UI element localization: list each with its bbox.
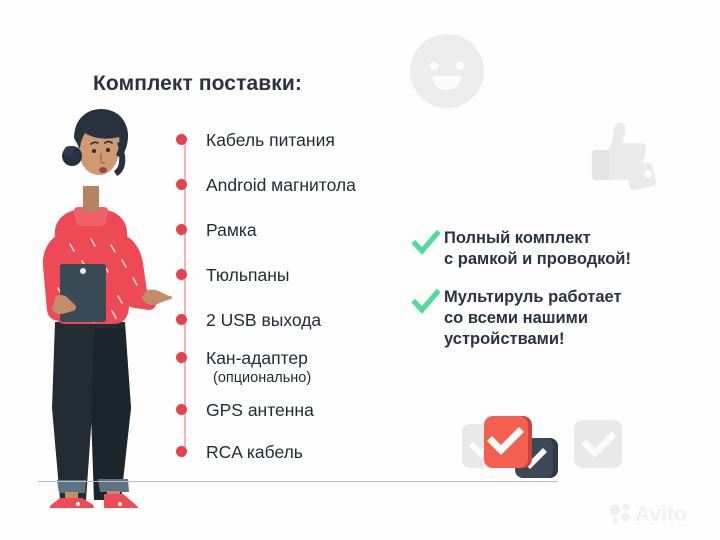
benefit-text: Мультируль работает со всеми нашими устр…	[444, 287, 622, 350]
benefit-line-1: Мультируль работает	[444, 288, 622, 306]
list-item: 2 USB выхода	[176, 310, 321, 330]
benefit-line-1: Полный комплект	[444, 229, 591, 247]
benefit-text: Полный комплект с рамкой и проводкой!	[444, 228, 631, 270]
list-item-label: Кан-адаптер	[206, 348, 308, 368]
bullet-dot-icon	[176, 446, 187, 457]
benefit-item: Мультируль работает со всеми нашими устр…	[412, 287, 712, 350]
avito-watermark: Avito	[608, 500, 708, 526]
list-item: GPS антенна	[176, 400, 314, 420]
list-item-label: GPS антенна	[206, 400, 314, 420]
bullet-dot-icon	[176, 224, 187, 235]
list-item-label: Android магнитола	[206, 175, 356, 195]
benefits-list: Полный комплект с рамкой и проводкой! Му…	[412, 228, 712, 367]
list-item-label: Кабель питания	[206, 130, 335, 150]
green-check-icon	[412, 230, 440, 256]
package-contents-list: Кабель питания Android магнитола Рамка Т…	[176, 130, 436, 460]
benefit-line-3: устройствами!	[444, 330, 565, 348]
checkbox-gray-right	[574, 420, 622, 468]
list-item-sublabel: (опционально)	[213, 370, 311, 387]
list-item-label: Рамка	[206, 220, 257, 240]
list-item: Кабель питания	[176, 130, 335, 150]
list-item: Тюльпаны	[176, 265, 289, 285]
checkbox-checkmarks-cluster	[462, 414, 622, 490]
list-item-label: RCA кабель	[206, 442, 303, 462]
slide-canvas: Комплект поставки:	[0, 0, 720, 540]
page-title: Комплект поставки:	[93, 72, 302, 96]
bullet-dot-icon	[176, 269, 187, 280]
woman-with-tablet-pointing-illustration	[8, 108, 176, 508]
benefit-item: Полный комплект с рамкой и проводкой!	[412, 228, 712, 270]
bullet-dot-icon	[176, 352, 187, 363]
green-check-icon	[412, 289, 440, 315]
list-item-label: Тюльпаны	[206, 265, 289, 285]
list-item-label: 2 USB выхода	[206, 310, 321, 330]
list-item: Рамка	[176, 220, 257, 240]
bullet-dot-icon	[176, 314, 187, 325]
list-item: RCA кабель	[176, 442, 303, 462]
list-item: Кан-адаптер	[176, 348, 308, 368]
benefit-line-2: со всеми нашими	[444, 309, 588, 327]
list-item: Android магнитола	[176, 175, 356, 195]
smiley-face-icon	[408, 32, 486, 110]
thumbs-up-icon	[575, 112, 671, 208]
bullet-dot-icon	[176, 404, 187, 415]
avito-watermark-label: Avito	[635, 503, 687, 526]
benefit-line-2: с рамкой и проводкой!	[444, 250, 631, 268]
bullet-dot-icon	[176, 134, 187, 145]
bullet-dot-icon	[176, 179, 187, 190]
